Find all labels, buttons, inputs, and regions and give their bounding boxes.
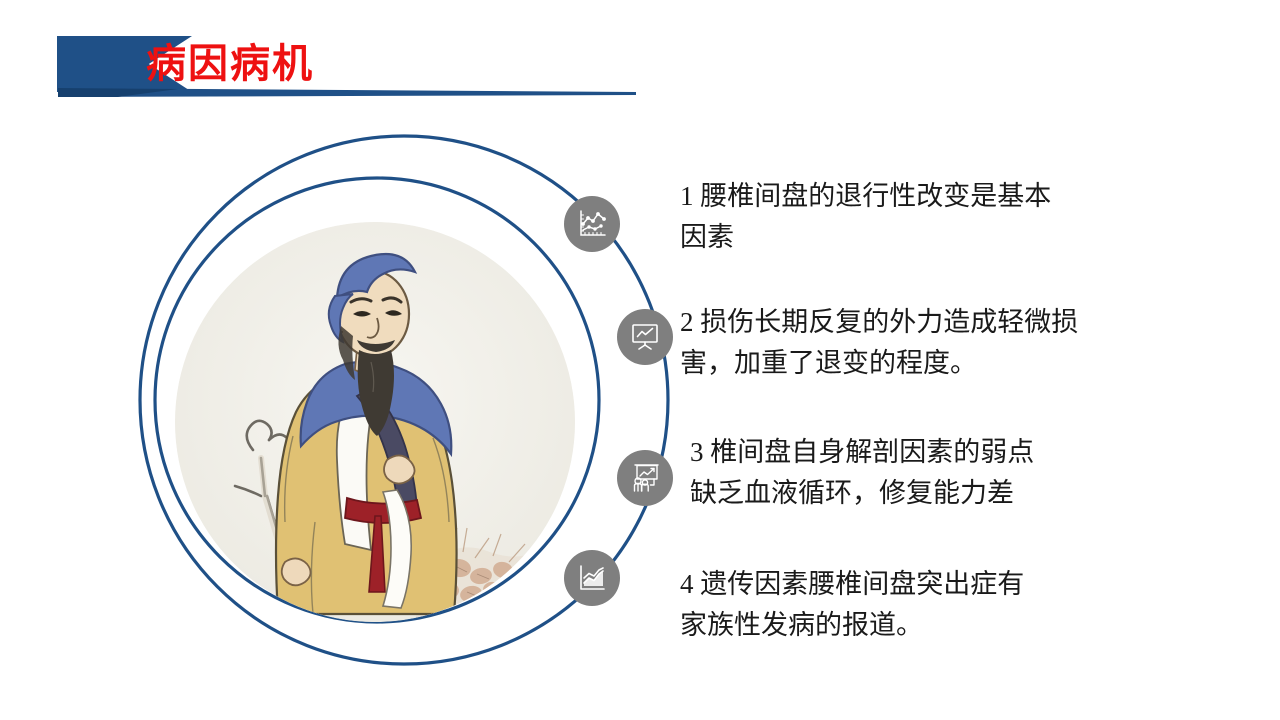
presentation-chart-icon-glyph — [628, 320, 662, 354]
area-chart-icon-glyph — [575, 561, 609, 595]
bullet-item-4: 4 遗传因素腰椎间盘突出症有 家族性发病的报道。 — [680, 564, 1220, 646]
slide-root: 病因病机 — [0, 0, 1280, 720]
area-chart-icon[interactable] — [564, 550, 620, 606]
presentation-chart-icon[interactable] — [617, 309, 673, 365]
bullet-item-2: 2 损伤长期反复的外力造成轻微损 害，加重了退变的程度。 — [680, 302, 1236, 384]
circular-illustration-group — [130, 126, 690, 686]
bullet-item-3: 3 椎间盘自身解剖因素的弱点 缺乏血液循环，修复能力差 — [690, 432, 1230, 514]
physician-illustration — [175, 222, 575, 622]
presenter-chart-icon-glyph — [628, 461, 662, 495]
page-title: 病因病机 — [146, 36, 314, 92]
title-underline — [58, 88, 636, 97]
line-chart-icon[interactable] — [564, 196, 620, 252]
physician-illustration-art — [175, 222, 575, 622]
line-chart-icon-glyph — [575, 207, 609, 241]
presenter-chart-icon[interactable] — [617, 450, 673, 506]
bullet-item-1: 1 腰椎间盘的退行性改变是基本 因素 — [680, 176, 1200, 258]
